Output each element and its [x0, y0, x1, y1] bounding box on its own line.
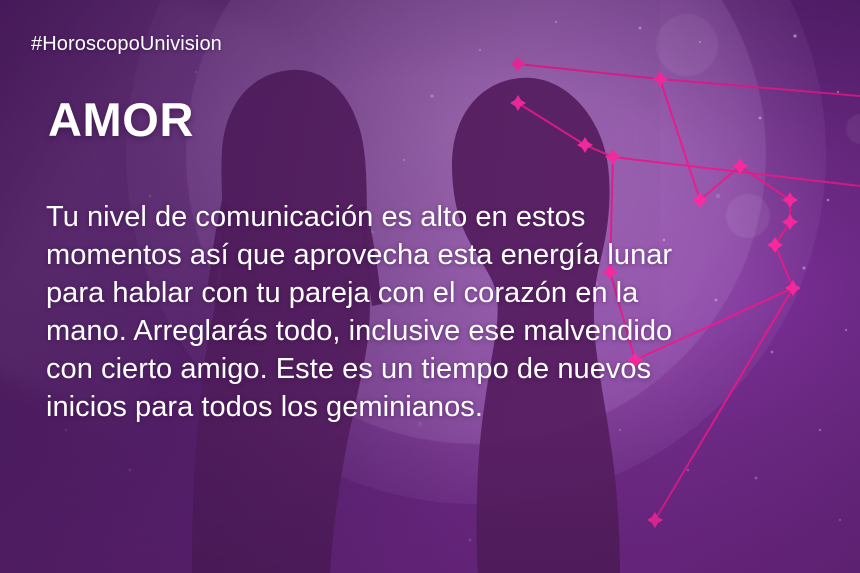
- body-line: para hablar con tu pareja con el corazón…: [46, 274, 786, 312]
- body-line: con cierto amigo. Este es un tiempo de n…: [46, 350, 786, 388]
- horoscope-body: Tu nivel de comunicación es alto en esto…: [46, 198, 786, 426]
- body-line: Tu nivel de comunicación es alto en esto…: [46, 198, 786, 236]
- body-line: momentos así que aprovecha esta energía …: [46, 236, 786, 274]
- horoscope-card: #HoroscopoUnivision AMOR Tu nivel de com…: [0, 0, 860, 573]
- page-title: AMOR: [48, 92, 194, 147]
- hashtag-label: #HoroscopoUnivision: [31, 33, 222, 56]
- text-content: #HoroscopoUnivision AMOR Tu nivel de com…: [0, 0, 860, 573]
- body-line: mano. Arreglarás todo, inclusive ese mal…: [46, 312, 786, 350]
- body-line: inicios para todos los geminianos.: [46, 388, 786, 426]
